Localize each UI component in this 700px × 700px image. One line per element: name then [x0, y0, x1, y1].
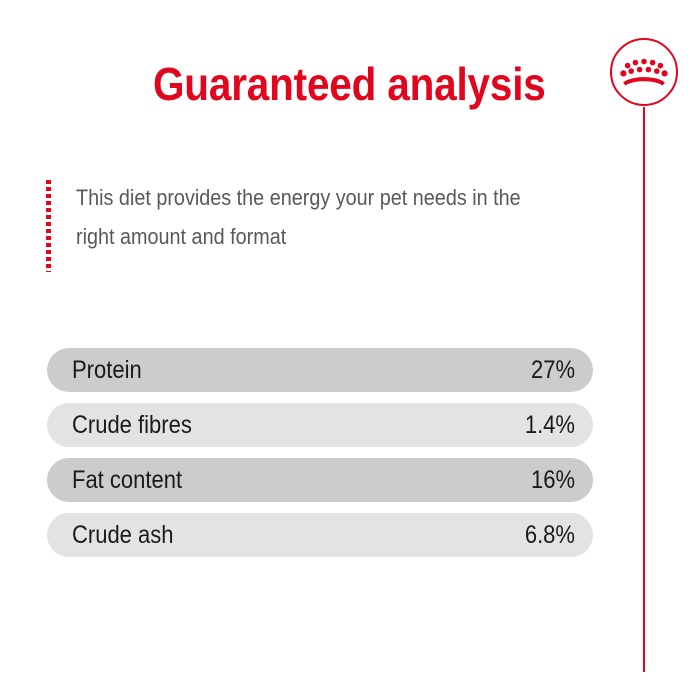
- analysis-row-value: 27%: [531, 357, 575, 383]
- analysis-row: Fat content 16%: [47, 458, 593, 502]
- analysis-row: Crude fibres 1.4%: [47, 403, 593, 447]
- intro-text: This diet provides the energy your pet n…: [76, 178, 535, 256]
- analysis-row-label: Crude fibres: [72, 412, 192, 438]
- analysis-row-label: Fat content: [72, 467, 182, 493]
- guaranteed-analysis-list: Protein 27% Crude fibres 1.4% Fat conten…: [47, 348, 593, 568]
- analysis-row: Crude ash 6.8%: [47, 513, 593, 557]
- analysis-row-value: 1.4%: [525, 412, 575, 438]
- analysis-row: Protein 27%: [47, 348, 593, 392]
- guaranteed-analysis-panel: Guaranteed analysis This diet provides t…: [0, 0, 700, 700]
- analysis-row-label: Protein: [72, 357, 142, 383]
- analysis-row-value: 16%: [531, 467, 575, 493]
- brand-vertical-rule: [643, 107, 645, 672]
- dotted-vertical-rule-icon: [46, 180, 51, 272]
- analysis-row-value: 6.8%: [525, 522, 575, 548]
- royal-canin-crown-icon: [608, 36, 680, 108]
- page-title: Guaranteed analysis: [153, 57, 546, 111]
- intro-block: This diet provides the energy your pet n…: [46, 178, 586, 272]
- analysis-row-label: Crude ash: [72, 522, 174, 548]
